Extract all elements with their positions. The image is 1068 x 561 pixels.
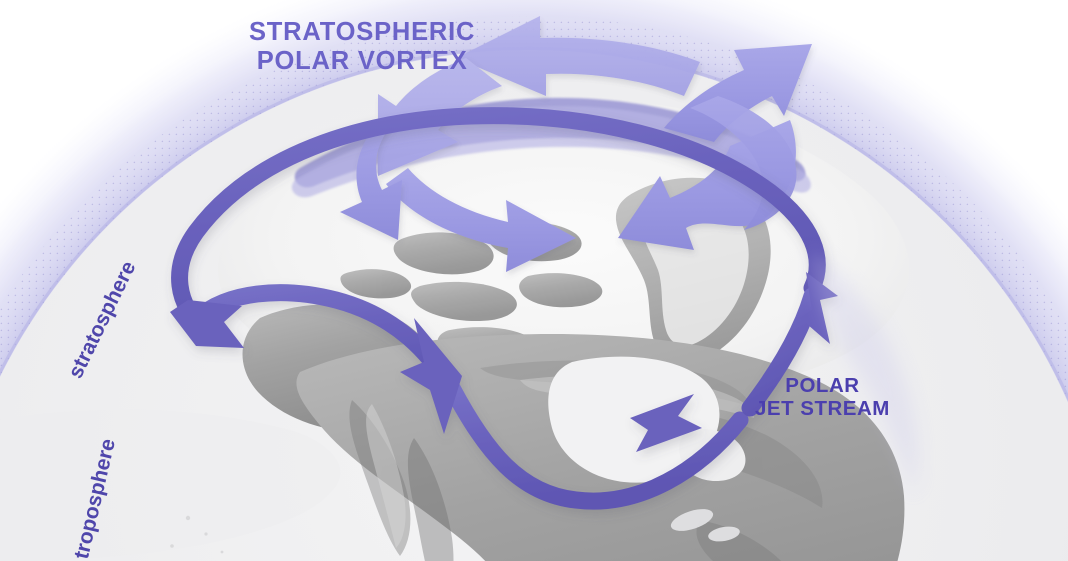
diagram-svg: [0, 0, 1068, 561]
diagram-canvas: STRATOSPHERICPOLAR VORTEX POLARJET STREA…: [0, 0, 1068, 561]
